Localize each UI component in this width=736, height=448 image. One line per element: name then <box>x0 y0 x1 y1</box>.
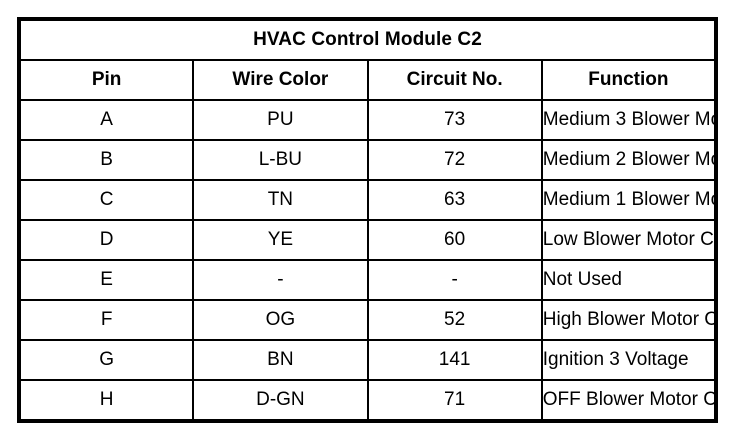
column-header-pin: Pin <box>19 60 193 100</box>
cell-pin: A <box>19 100 193 140</box>
cell-circuit-no: 73 <box>368 100 542 140</box>
cell-function: Medium 1 Blower Motor Control <box>542 180 716 220</box>
column-header-circuit-no: Circuit No. <box>368 60 542 100</box>
cell-circuit-no: 52 <box>368 300 542 340</box>
table-row: G BN 141 Ignition 3 Voltage <box>19 340 716 380</box>
table-row: A PU 73 Medium 3 Blower Motor Control <box>19 100 716 140</box>
table-row: D YE 60 Low Blower Motor Control <box>19 220 716 260</box>
cell-pin: G <box>19 340 193 380</box>
cell-wire-color: TN <box>193 180 367 220</box>
document-canvas: HVAC Control Module C2 Pin Wire Color Ci… <box>0 0 736 448</box>
cell-wire-color: L-BU <box>193 140 367 180</box>
cell-circuit-no: - <box>368 260 542 300</box>
cell-pin: C <box>19 180 193 220</box>
cell-circuit-no: 60 <box>368 220 542 260</box>
cell-circuit-no: 71 <box>368 380 542 421</box>
cell-pin: E <box>19 260 193 300</box>
column-header-wire-color: Wire Color <box>193 60 367 100</box>
table-title-row: HVAC Control Module C2 <box>19 19 716 60</box>
cell-pin: B <box>19 140 193 180</box>
cell-pin: F <box>19 300 193 340</box>
table-row: E - - Not Used <box>19 260 716 300</box>
cell-circuit-no: 141 <box>368 340 542 380</box>
cell-function: Not Used <box>542 260 716 300</box>
cell-pin: D <box>19 220 193 260</box>
cell-function: OFF Blower Motor Control <box>542 380 716 421</box>
table-row: B L-BU 72 Medium 2 Blower Motor Control <box>19 140 716 180</box>
cell-function: Medium 3 Blower Motor Control <box>542 100 716 140</box>
cell-wire-color: D-GN <box>193 380 367 421</box>
cell-wire-color: - <box>193 260 367 300</box>
cell-function: Low Blower Motor Control <box>542 220 716 260</box>
table-header-row: Pin Wire Color Circuit No. Function <box>19 60 716 100</box>
cell-wire-color: BN <box>193 340 367 380</box>
table-title: HVAC Control Module C2 <box>19 19 716 60</box>
cell-pin: H <box>19 380 193 421</box>
cell-circuit-no: 63 <box>368 180 542 220</box>
cell-wire-color: PU <box>193 100 367 140</box>
cell-function: High Blower Motor Control <box>542 300 716 340</box>
hvac-pinout-table: HVAC Control Module C2 Pin Wire Color Ci… <box>17 17 718 423</box>
cell-wire-color: OG <box>193 300 367 340</box>
cell-function: Medium 2 Blower Motor Control <box>542 140 716 180</box>
table-row: C TN 63 Medium 1 Blower Motor Control <box>19 180 716 220</box>
column-header-function: Function <box>542 60 716 100</box>
cell-function: Ignition 3 Voltage <box>542 340 716 380</box>
table-row: H D-GN 71 OFF Blower Motor Control <box>19 380 716 421</box>
cell-circuit-no: 72 <box>368 140 542 180</box>
cell-wire-color: YE <box>193 220 367 260</box>
table-row: F OG 52 High Blower Motor Control <box>19 300 716 340</box>
